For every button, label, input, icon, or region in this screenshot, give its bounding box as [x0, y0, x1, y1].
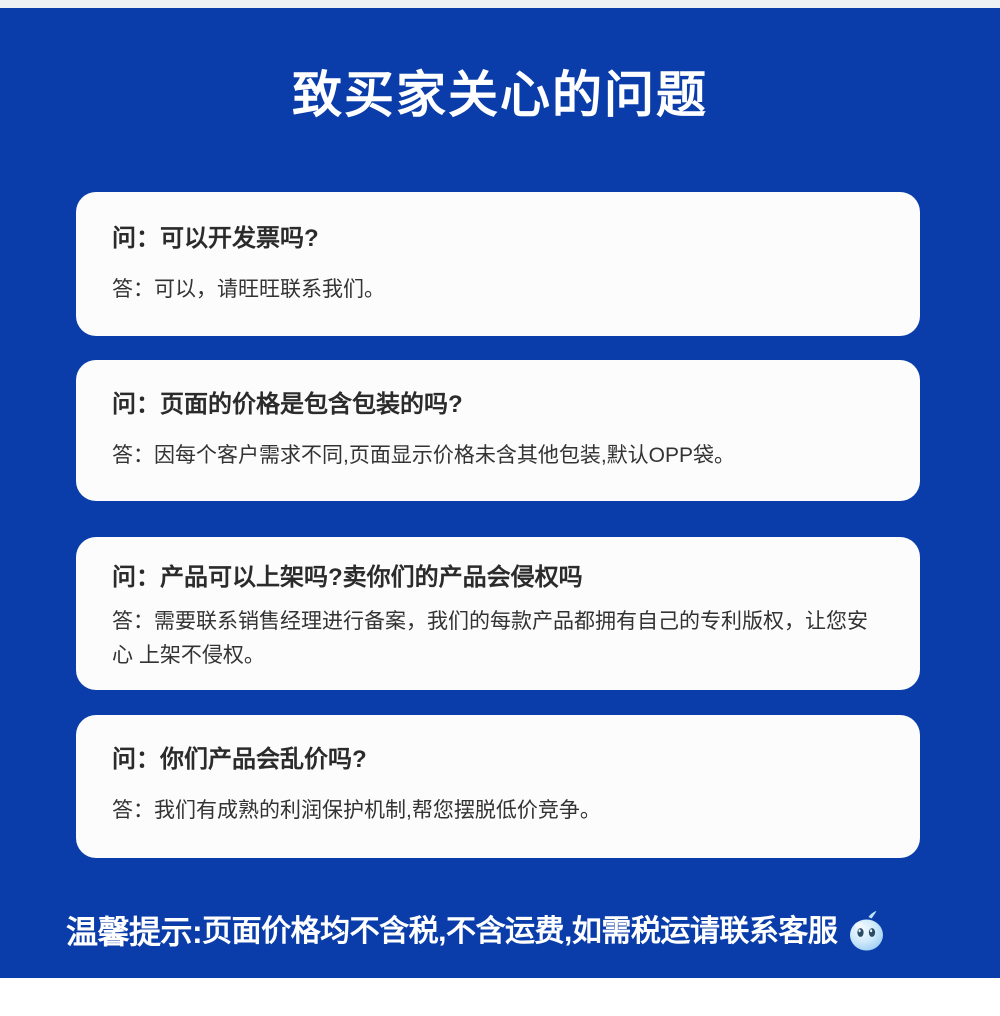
faq-page: 致买家关心的问题 问：可以开发票吗? 答：可以，请旺旺联系我们。 问：页面的价格… — [0, 0, 1000, 1016]
wangwang-mascot-icon — [847, 910, 887, 954]
faq-answer-2: 答：因每个客户需求不同,页面显示价格未含其他包装,默认OPP袋。 — [112, 441, 884, 471]
faq-card-3: 问：产品可以上架吗?卖你们的产品会侵权吗 答：需要联系销售经理进行备案，我们的每… — [76, 537, 920, 690]
faq-answer-1: 答：可以，请旺旺联系我们。 — [112, 275, 884, 305]
faq-question-4: 问：你们产品会乱价吗? — [112, 745, 884, 775]
top-divider-strip — [0, 0, 1000, 8]
faq-question-3: 问：产品可以上架吗?卖你们的产品会侵权吗 — [112, 563, 884, 593]
faq-question-2: 问：页面的价格是包含包装的吗? — [112, 390, 884, 420]
bottom-divider-strip — [0, 978, 1000, 1016]
page-title: 致买家关心的问题 — [0, 64, 1000, 126]
tip-text: 页面价格均不含税,不含运费,如需税运请联系客服 — [202, 913, 837, 951]
faq-card-2: 问：页面的价格是包含包装的吗? 答：因每个客户需求不同,页面显示价格未含其他包装… — [76, 360, 920, 501]
faq-answer-3: 答：需要联系销售经理进行备案，我们的每款产品都拥有自己的专利版权，让您安心 上架… — [112, 605, 884, 673]
faq-question-1: 问：可以开发票吗? — [112, 224, 884, 254]
tip-bar: 温馨提示: 页面价格均不含税,不含运费,如需税运请联系客服 — [66, 903, 946, 961]
faq-card-1: 问：可以开发票吗? 答：可以，请旺旺联系我们。 — [76, 192, 920, 336]
faq-answer-4: 答：我们有成熟的利润保护机制,帮您摆脱低价竞争。 — [112, 796, 884, 826]
tip-label: 温馨提示: — [66, 913, 202, 951]
faq-card-4: 问：你们产品会乱价吗? 答：我们有成熟的利润保护机制,帮您摆脱低价竞争。 — [76, 715, 920, 858]
